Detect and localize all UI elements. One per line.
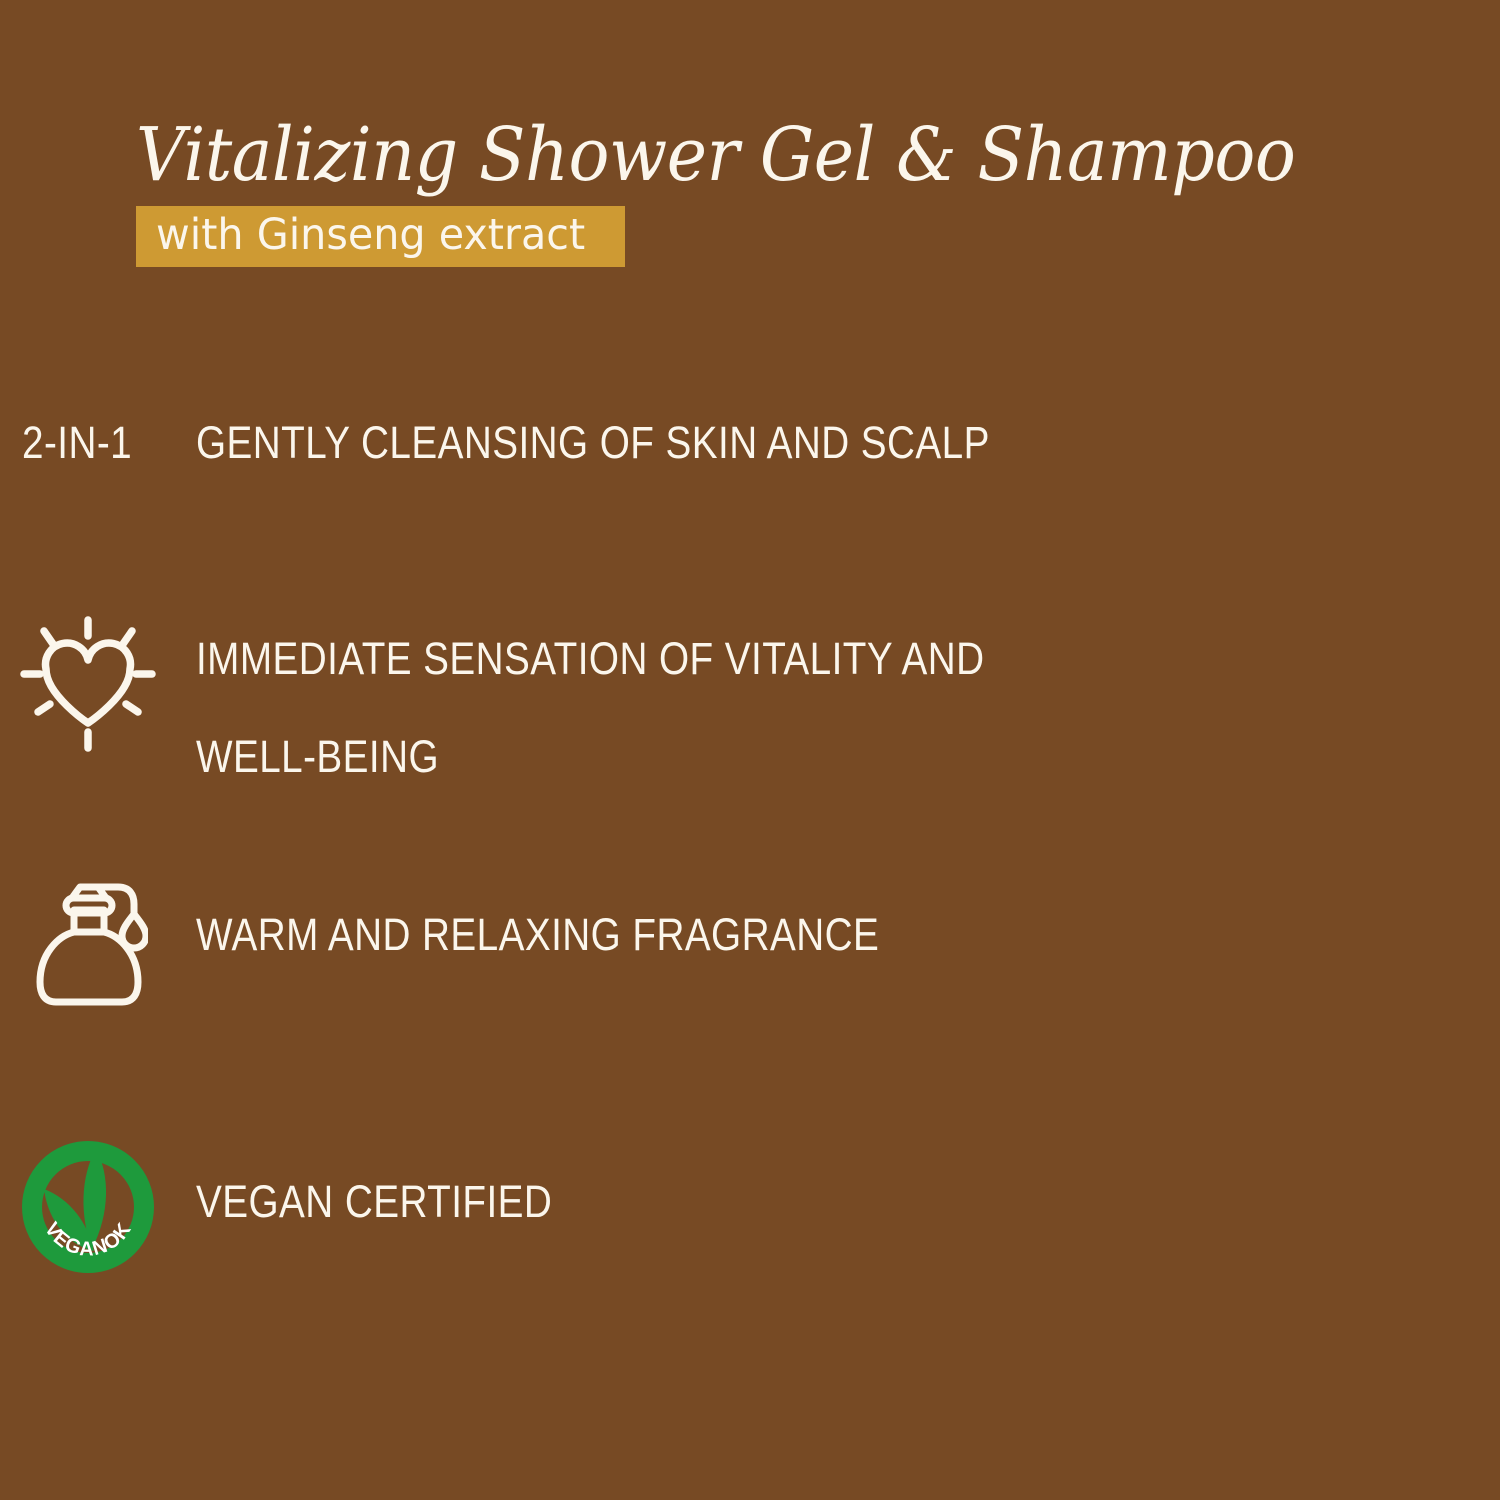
subtitle-text: with Ginseng extract [156,213,585,258]
feature-row: WARM AND RELAXING FRAGRANCE [0,880,1500,1010]
soap-dispenser-bottle-icon [0,880,196,1010]
veganok-certification-logo: VEGANOK [0,1137,196,1277]
feature-text: WARM AND RELAXING FRAGRANCE [196,880,879,957]
feature-text-line-1: WARM AND RELAXING FRAGRANCE [196,909,879,960]
radiant-heart-icon [0,614,196,754]
two-in-one-label: 2-IN-1 [22,418,132,465]
feature-text-line-2: WELL-BEING [196,734,984,779]
page-title: Vitalizing Shower Gel & Shampoo [136,118,1277,192]
feature-text-line-1: GENTLY CLEANSING OF SKIN AND SCALP [196,417,990,468]
two-in-one-badge-icon: 2-IN-1 [0,418,196,465]
product-infographic: Vitalizing Shower Gel & Shampoo with Gin… [0,0,1500,1500]
feature-text-line-1: IMMEDIATE SENSATION OF VITALITY AND [196,633,984,684]
feature-text: IMMEDIATE SENSATION OF VITALITY AND WELL… [196,614,984,779]
header-block: Vitalizing Shower Gel & Shampoo with Gin… [136,118,1376,267]
feature-row: VEGANOK VEGAN CERTIFIED [0,1137,1500,1277]
feature-row: IMMEDIATE SENSATION OF VITALITY AND WELL… [0,614,1500,779]
subtitle-banner: with Ginseng extract [136,206,625,267]
feature-row: 2-IN-1 GENTLY CLEANSING OF SKIN AND SCAL… [0,418,1500,465]
feature-text-line-1: VEGAN CERTIFIED [196,1176,552,1227]
feature-text: VEGAN CERTIFIED [196,1137,552,1224]
feature-text: GENTLY CLEANSING OF SKIN AND SCALP [196,418,990,465]
